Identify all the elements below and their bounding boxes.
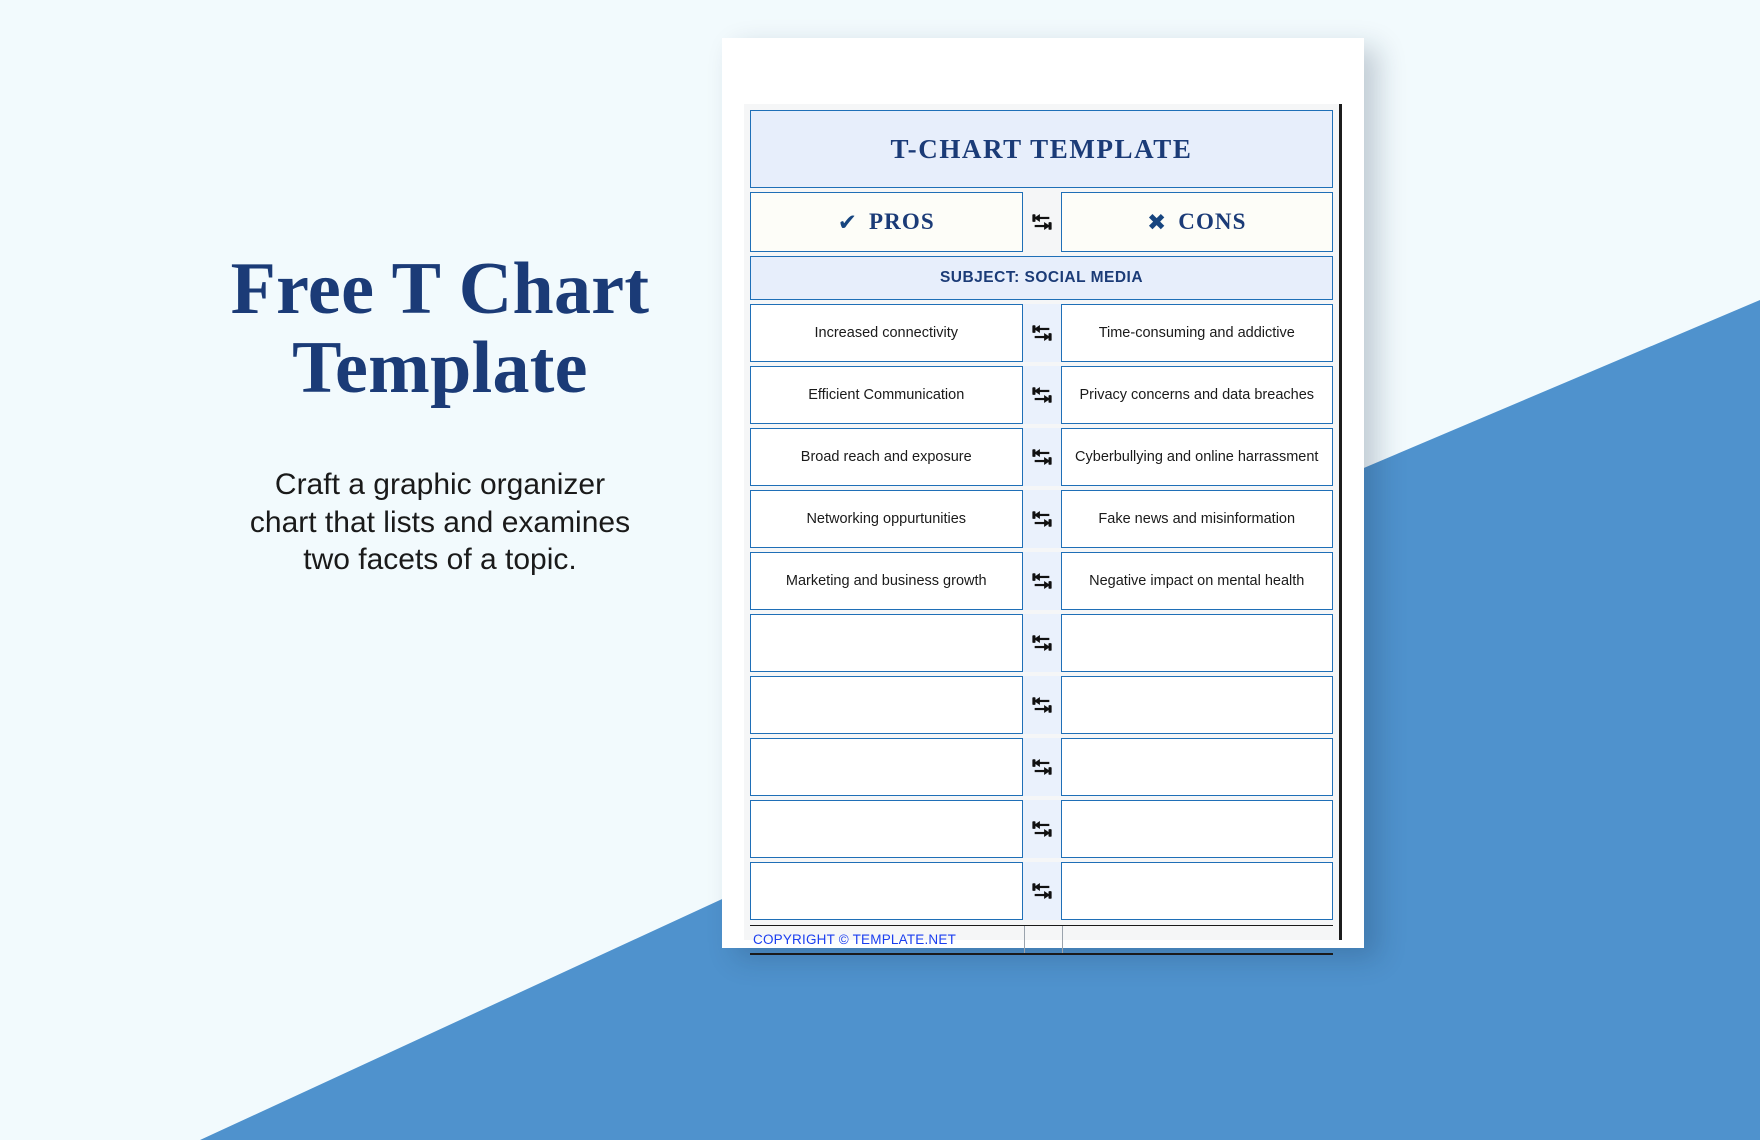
cons-header-cell[interactable]: ✖ CONS <box>1061 192 1334 252</box>
table-row: Broad reach and exposureCyberbullying an… <box>750 428 1333 486</box>
table-row: Increased connectivityTime-consuming and… <box>750 304 1333 362</box>
pro-text: Broad reach and exposure <box>801 449 972 465</box>
pro-cell[interactable] <box>750 676 1023 734</box>
table-row: Efficient CommunicationPrivacy concerns … <box>750 366 1333 424</box>
document-page: T-CHART TEMPLATE ✔ PROS <box>722 38 1364 948</box>
table-row <box>750 800 1333 858</box>
swap-arrows-icon <box>1023 614 1061 672</box>
pro-cell[interactable]: Marketing and business growth <box>750 552 1023 610</box>
pros-header-cell[interactable]: ✔ PROS <box>750 192 1023 252</box>
footer-left-cell: COPYRIGHT © TEMPLATE.NET <box>750 926 1025 953</box>
swap-arrows-icon <box>1023 490 1061 548</box>
pro-cell[interactable] <box>750 614 1023 672</box>
promo-subtitle-line2: chart that lists and examines <box>150 504 730 542</box>
subject-label: SUBJECT: SOCIAL MEDIA <box>940 269 1143 287</box>
promo-subtitle: Craft a graphic organizer chart that lis… <box>150 466 730 579</box>
document-canvas: T-CHART TEMPLATE ✔ PROS <box>744 104 1342 940</box>
subject-row[interactable]: SUBJECT: SOCIAL MEDIA <box>750 256 1333 300</box>
cross-icon: ✖ <box>1147 211 1166 234</box>
promo-panel: Free T Chart Template Craft a graphic or… <box>150 250 730 579</box>
pro-cell[interactable] <box>750 862 1023 920</box>
promo-title-line2: Template <box>150 329 730 408</box>
screenshot-root: Free T Chart Template Craft a graphic or… <box>0 0 1760 1140</box>
con-text: Cyberbullying and online harrassment <box>1075 449 1318 465</box>
con-cell[interactable] <box>1061 800 1334 858</box>
swap-arrows-icon <box>1023 676 1061 734</box>
pro-text: Marketing and business growth <box>786 573 987 589</box>
table-row <box>750 738 1333 796</box>
swap-arrows-icon <box>1023 192 1061 252</box>
con-cell[interactable] <box>1061 738 1334 796</box>
con-cell[interactable]: Time-consuming and addictive <box>1061 304 1334 362</box>
swap-arrows-icon <box>1023 800 1061 858</box>
column-header-row: ✔ PROS <box>750 192 1333 252</box>
pro-text: Networking oppurtunities <box>806 511 966 527</box>
con-text: Privacy concerns and data breaches <box>1079 387 1314 403</box>
table-row <box>750 614 1333 672</box>
footer-right-cell <box>1063 926 1334 953</box>
cons-header-label: CONS <box>1178 209 1246 235</box>
con-cell[interactable] <box>1061 862 1334 920</box>
con-text: Fake news and misinformation <box>1098 511 1295 527</box>
con-cell[interactable]: Cyberbullying and online harrassment <box>1061 428 1334 486</box>
table-row: Marketing and business growthNegative im… <box>750 552 1333 610</box>
footer-middle-cell <box>1025 926 1063 953</box>
pros-header-label: PROS <box>869 209 935 235</box>
pro-cell[interactable]: Broad reach and exposure <box>750 428 1023 486</box>
con-cell[interactable]: Negative impact on mental health <box>1061 552 1334 610</box>
swap-arrows-icon <box>1023 304 1061 362</box>
chart-title: T-CHART TEMPLATE <box>891 134 1193 165</box>
table-row: Networking oppurtunitiesFake news and mi… <box>750 490 1333 548</box>
promo-title-line1: Free T Chart <box>150 250 730 329</box>
swap-arrows-icon <box>1023 862 1061 920</box>
promo-subtitle-line1: Craft a graphic organizer <box>150 466 730 504</box>
chart-rows: Increased connectivityTime-consuming and… <box>750 304 1333 920</box>
pro-cell[interactable]: Efficient Communication <box>750 366 1023 424</box>
table-row <box>750 862 1333 920</box>
pro-cell[interactable]: Increased connectivity <box>750 304 1023 362</box>
t-chart: T-CHART TEMPLATE ✔ PROS <box>750 110 1333 955</box>
con-cell[interactable]: Fake news and misinformation <box>1061 490 1334 548</box>
con-text: Negative impact on mental health <box>1089 573 1304 589</box>
con-text: Time-consuming and addictive <box>1099 325 1295 341</box>
pro-text: Increased connectivity <box>815 325 958 341</box>
swap-arrows-icon <box>1023 366 1061 424</box>
table-row <box>750 676 1333 734</box>
promo-subtitle-line3: two facets of a topic. <box>150 541 730 579</box>
con-cell[interactable] <box>1061 614 1334 672</box>
swap-arrows-icon <box>1023 428 1061 486</box>
pro-text: Efficient Communication <box>808 387 964 403</box>
pro-cell[interactable] <box>750 738 1023 796</box>
footer-row: COPYRIGHT © TEMPLATE.NET <box>750 925 1333 955</box>
pro-cell[interactable] <box>750 800 1023 858</box>
swap-arrows-icon <box>1023 738 1061 796</box>
chart-title-row: T-CHART TEMPLATE <box>750 110 1333 188</box>
promo-title: Free T Chart Template <box>150 250 730 408</box>
check-icon: ✔ <box>838 211 857 234</box>
swap-arrows-icon <box>1023 552 1061 610</box>
copyright-text: COPYRIGHT © TEMPLATE.NET <box>753 932 956 947</box>
con-cell[interactable]: Privacy concerns and data breaches <box>1061 366 1334 424</box>
con-cell[interactable] <box>1061 676 1334 734</box>
pro-cell[interactable]: Networking oppurtunities <box>750 490 1023 548</box>
